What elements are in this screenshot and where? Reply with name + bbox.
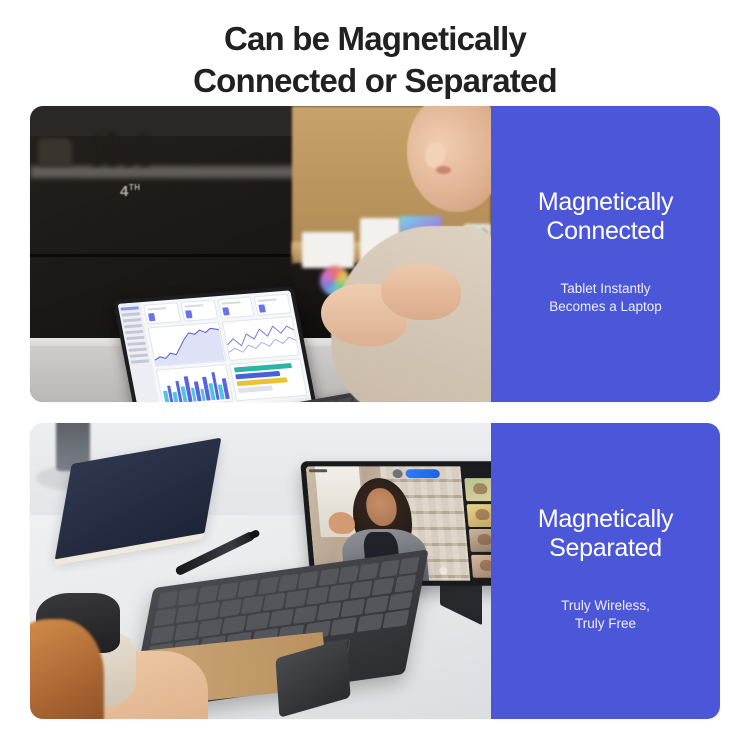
bar-chart-tile: [156, 364, 233, 402]
caption-title: Magnetically Separated: [538, 505, 673, 563]
feature-card-separated: Magnetically Separated Truly Wireless, T…: [30, 423, 720, 719]
cabinet-top-edge: [30, 166, 320, 178]
caption-title: Magnetically Connected: [538, 188, 673, 246]
legend-tile: [229, 358, 308, 401]
sign-suffix: TH: [129, 183, 141, 192]
dashboard-main: [140, 290, 315, 402]
tablet-screen-dashboard: [118, 290, 315, 402]
participant-thumbnail[interactable]: [469, 529, 491, 552]
participant-thumbnail[interactable]: [471, 555, 491, 578]
foreground-person: [30, 599, 214, 719]
photo-connected: 4TH: [30, 106, 491, 402]
bottles-prop: [88, 132, 158, 166]
kettle-prop: [38, 138, 72, 166]
kpi-tile: [217, 296, 255, 318]
line-chart-tile: [221, 316, 299, 361]
photo-separated: [30, 423, 491, 719]
kpi-tile: [254, 294, 292, 316]
cabinet-seam: [30, 254, 320, 257]
kpi-tile: [143, 302, 181, 324]
call-title-placeholder: [309, 469, 327, 472]
page-title: Can be Magnetically Connected or Separat…: [0, 0, 750, 101]
caption-subtitle: Truly Wireless, Truly Free: [561, 597, 650, 633]
person-lips: [436, 166, 451, 174]
participant-thumbnail[interactable]: [467, 504, 491, 527]
tablet-device-connected: [113, 286, 319, 402]
caption-subtitle: Tablet Instantly Becomes a Laptop: [549, 280, 662, 316]
person-hand-right: [381, 264, 461, 320]
caption-panel-connected: Magnetically Connected Tablet Instantly …: [491, 106, 720, 402]
background-sign-4th: 4TH: [120, 183, 141, 200]
feature-card-connected: 4TH: [30, 106, 720, 402]
page-title-line-1: Can be Magnetically: [0, 18, 750, 60]
recording-indicator-pill: [405, 469, 440, 478]
caption-panel-separated: Magnetically Separated Truly Wireless, T…: [491, 423, 720, 719]
page-title-line-2: Connected or Separated: [0, 60, 750, 102]
participant-thumbnail[interactable]: [464, 478, 491, 501]
kpi-tile: [180, 299, 218, 321]
shelf-print-colorwheel: [302, 232, 354, 268]
sign-number: 4: [120, 183, 129, 200]
area-chart-tile: [148, 322, 226, 367]
